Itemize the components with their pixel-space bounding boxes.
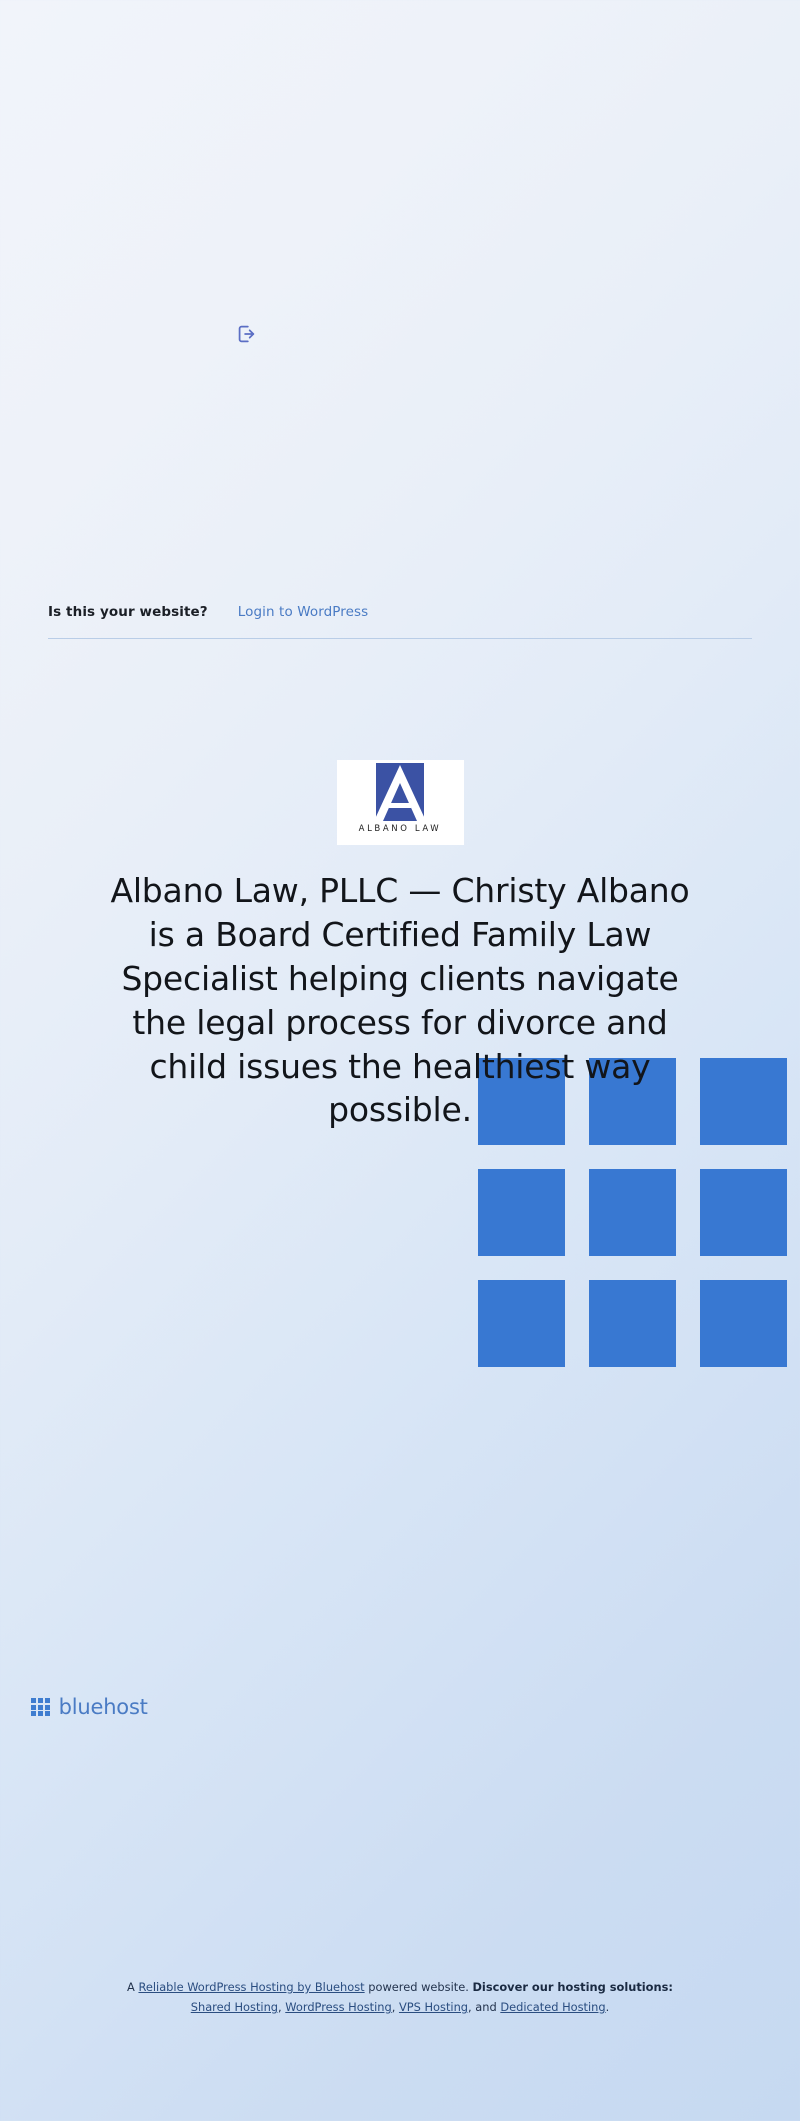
grid-square	[478, 1280, 565, 1367]
site-owner-row: Is this your website? Login to WordPress	[48, 604, 752, 639]
footer-prefix: A	[127, 1980, 138, 1994]
logo-wordmark: ALBANO LAW	[359, 824, 442, 834]
dedicated-hosting-link[interactable]: Dedicated Hosting	[500, 2000, 605, 2014]
bluehost-dot	[31, 1698, 36, 1703]
site-logo: ALBANO LAW	[337, 760, 464, 845]
login-to-wordpress-link[interactable]: Login to WordPress	[238, 604, 369, 620]
vps-hosting-link[interactable]: VPS Hosting	[399, 2000, 468, 2014]
bluehost-dot	[45, 1698, 50, 1703]
grid-square	[589, 1280, 676, 1367]
hosting-solutions-label: Discover our hosting solutions:	[472, 1980, 673, 1994]
footer-middle: powered website.	[365, 1980, 473, 1994]
footer-line-1: A Reliable WordPress Hosting by Bluehost…	[60, 1978, 740, 1998]
bluehost-dot	[38, 1698, 43, 1703]
bluehost-wordmark: bluehost	[59, 1695, 148, 1719]
footer-sep: ,	[392, 2000, 399, 2014]
page-footer: A Reliable WordPress Hosting by Bluehost…	[0, 1978, 800, 2018]
bluehost-dot	[38, 1711, 43, 1716]
footer-period: .	[606, 2000, 610, 2014]
bluehost-dot	[31, 1705, 36, 1710]
footer-line-2: Shared Hosting, WordPress Hosting, VPS H…	[60, 1998, 740, 2018]
grid-square	[478, 1169, 565, 1256]
shared-hosting-link[interactable]: Shared Hosting	[191, 2000, 278, 2014]
grid-square	[589, 1169, 676, 1256]
grid-square	[700, 1169, 787, 1256]
bluehost-brand-lockup: bluehost	[31, 1695, 148, 1719]
bluehost-dot	[38, 1705, 43, 1710]
bluehost-dot	[45, 1705, 50, 1710]
logo-letter-a-glyph	[376, 763, 424, 821]
bluehost-dot	[31, 1711, 36, 1716]
hero-section: ALBANO LAW Albano Law, PLLC — Christy Al…	[0, 760, 800, 1132]
login-exit-icon-glyph	[235, 323, 257, 345]
logo-letter-a-mark	[376, 763, 424, 821]
login-exit-icon[interactable]	[226, 314, 266, 354]
wordpress-hosting-link[interactable]: WordPress Hosting	[285, 2000, 391, 2014]
bluehost-dot	[45, 1711, 50, 1716]
site-owner-question: Is this your website?	[48, 604, 208, 620]
page-title: Albano Law, PLLC — Christy Albano is a B…	[100, 869, 700, 1132]
reliable-hosting-link[interactable]: Reliable WordPress Hosting by Bluehost	[138, 1980, 364, 1994]
bluehost-grid-icon	[31, 1698, 50, 1717]
grid-square	[700, 1280, 787, 1367]
site-owner-bar: Is this your website? Login to WordPress	[48, 604, 752, 639]
footer-sep: , and	[468, 2000, 500, 2014]
